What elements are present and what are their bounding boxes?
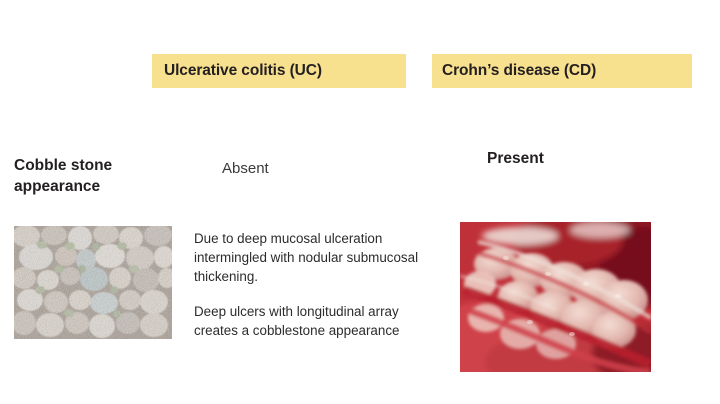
row-label-line-1: Cobble stone: [14, 156, 184, 177]
header-banner-uc-label: Ulcerative colitis (UC): [164, 62, 322, 80]
slide-canvas: Ulcerative colitis (UC) Crohn’s disease …: [0, 0, 720, 404]
note-paragraph-1: Due to deep mucosal ulceration interming…: [194, 229, 444, 286]
row-label-cobble-stone-appearance: Cobble stone appearance: [14, 156, 184, 197]
header-banner-cd-label: Crohn’s disease (CD): [442, 62, 596, 80]
crohn-photo-graphic: [460, 222, 651, 372]
uc-cell-value: Absent: [222, 160, 269, 177]
crohn-disease-gross-specimen-photo: [460, 222, 651, 372]
header-banner-ulcerative-colitis: Ulcerative colitis (UC): [152, 54, 406, 88]
note-paragraph-2: Deep ulcers with longitudinal array crea…: [194, 302, 444, 340]
cobblestone-photo-graphic: [14, 226, 172, 339]
header-banner-crohns-disease: Crohn’s disease (CD): [432, 54, 692, 88]
cd-cell-value: Present: [487, 150, 544, 168]
row-label-line-2: appearance: [14, 177, 184, 198]
cobblestone-pavement-photo: [14, 226, 172, 339]
explanatory-notes: Due to deep mucosal ulceration interming…: [194, 229, 444, 340]
